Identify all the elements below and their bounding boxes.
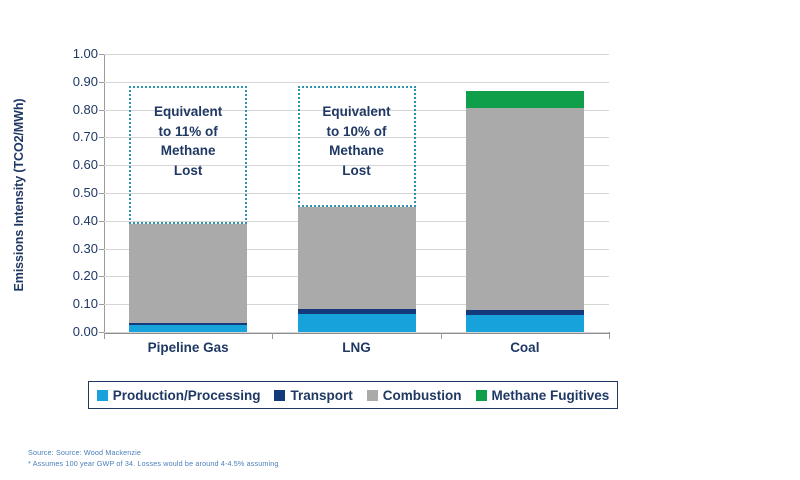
x-axis-category-label: LNG: [277, 340, 437, 355]
y-axis-tick: [99, 54, 104, 55]
bar-segment[interactable]: [298, 309, 416, 314]
bar-segment[interactable]: [466, 315, 584, 332]
y-axis-tick: [99, 165, 104, 166]
bar-segment[interactable]: [129, 224, 247, 323]
gridline: [104, 332, 609, 333]
bar-segment[interactable]: [466, 108, 584, 310]
y-axis-tick-label: 0.90: [52, 75, 98, 88]
x-axis-tick: [272, 333, 273, 339]
bar-segment[interactable]: [298, 207, 416, 309]
legend-item-label: Production/Processing: [113, 388, 261, 403]
annotation-text: Equivalent to 11% of Methane Lost: [154, 102, 222, 180]
y-axis-tick: [99, 276, 104, 277]
legend-item[interactable]: Combustion: [367, 388, 462, 403]
y-axis-tick: [99, 82, 104, 83]
x-axis-tick: [609, 333, 610, 339]
legend-item-label: Transport: [290, 388, 352, 403]
y-axis-tick: [99, 304, 104, 305]
legend-swatch-icon: [367, 390, 378, 401]
bar-column[interactable]: [466, 54, 584, 332]
y-axis-tick: [99, 221, 104, 222]
annotation-box: Equivalent to 10% of Methane Lost: [298, 86, 416, 207]
legend-item[interactable]: Methane Fugitives: [476, 388, 610, 403]
y-axis-tick-label: 1.00: [52, 47, 98, 60]
bar-segment[interactable]: [466, 91, 584, 108]
legend-swatch-icon: [274, 390, 285, 401]
chart-canvas: Emissions Intensity (TCO2/MWh) 1.000.900…: [0, 0, 800, 480]
annotation-box: Equivalent to 11% of Methane Lost: [129, 86, 247, 224]
chart-legend: Production/ProcessingTransportCombustion…: [88, 381, 618, 409]
x-axis-tick: [441, 333, 442, 339]
footnote-line: Source: Source: Wood Mackenzie: [28, 447, 728, 458]
footnote-line: * Assumes 100 year GWP of 34. Losses wou…: [28, 458, 728, 469]
bar-segment[interactable]: [466, 310, 584, 314]
legend-item[interactable]: Transport: [274, 388, 352, 403]
annotation-text: Equivalent to 10% of Methane Lost: [322, 102, 390, 180]
footnote-block: Source: Source: Wood Mackenzie* Assumes …: [28, 447, 728, 469]
y-axis-tick-label: 0.70: [52, 130, 98, 143]
y-axis-title: Emissions Intensity (TCO2/MWh): [12, 90, 34, 300]
bar-segment[interactable]: [129, 325, 247, 332]
y-axis-tick-label: 0.10: [52, 297, 98, 310]
y-axis-tick-label: 0.80: [52, 103, 98, 116]
legend-item-label: Methane Fugitives: [492, 388, 610, 403]
y-axis-tick-label: 0.40: [52, 214, 98, 227]
legend-swatch-icon: [476, 390, 487, 401]
plot-area: Equivalent to 11% of Methane LostEquival…: [104, 54, 609, 332]
legend-item-label: Combustion: [383, 388, 462, 403]
x-axis-tick: [104, 333, 105, 339]
y-axis-tick: [99, 110, 104, 111]
y-axis-tick-labels: 1.000.900.800.700.600.500.400.300.200.10…: [50, 54, 98, 332]
y-axis-tick-label: 0.50: [52, 186, 98, 199]
y-axis-tick: [99, 137, 104, 138]
legend-swatch-icon: [97, 390, 108, 401]
y-axis-tick: [99, 249, 104, 250]
bar-segment[interactable]: [129, 323, 247, 325]
x-axis-category-label: Pipeline Gas: [108, 340, 268, 355]
y-axis-tick: [99, 193, 104, 194]
x-axis-category-label: Coal: [445, 340, 605, 355]
y-axis-tick-label: 0.20: [52, 269, 98, 282]
y-axis-tick-label: 0.30: [52, 242, 98, 255]
y-axis-tick-label: 0.60: [52, 158, 98, 171]
legend-item[interactable]: Production/Processing: [97, 388, 261, 403]
bar-segment[interactable]: [298, 314, 416, 332]
y-axis-tick-label: 0.00: [52, 325, 98, 338]
